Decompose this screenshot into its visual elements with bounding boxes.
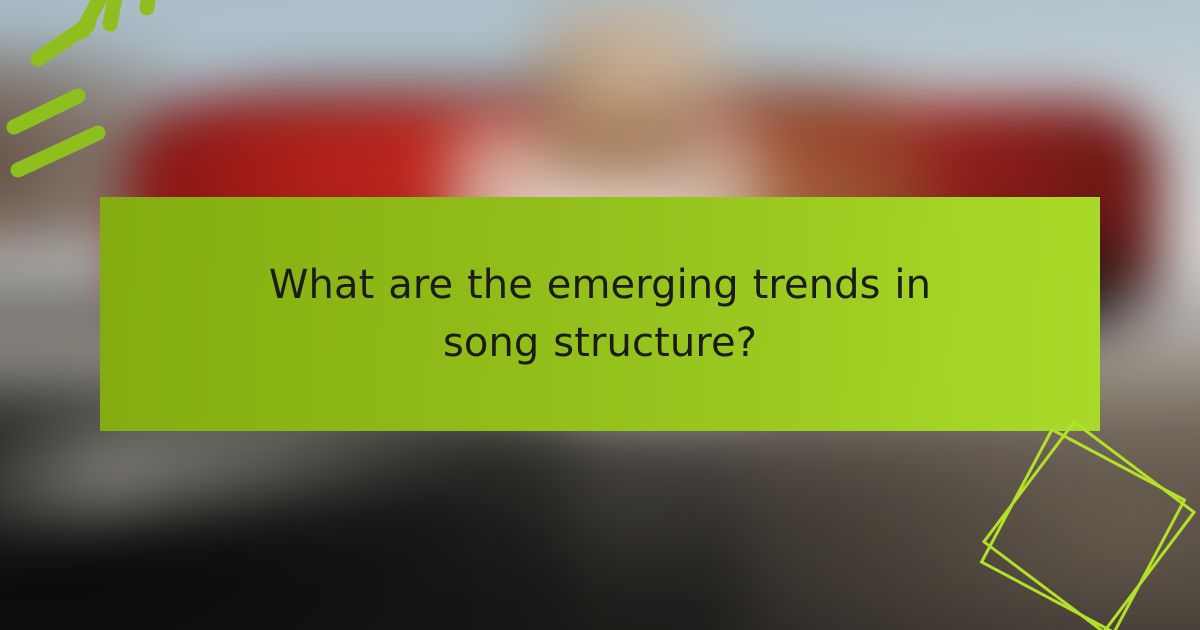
- headline-text: What are the emerging trends in song str…: [250, 256, 950, 372]
- headline-line-2: structure?: [553, 320, 757, 366]
- quote-card: What are the emerging trends in song str…: [0, 0, 1200, 630]
- headline-banner: What are the emerging trends in song str…: [100, 197, 1100, 431]
- person-raised-arms: [544, 0, 740, 116]
